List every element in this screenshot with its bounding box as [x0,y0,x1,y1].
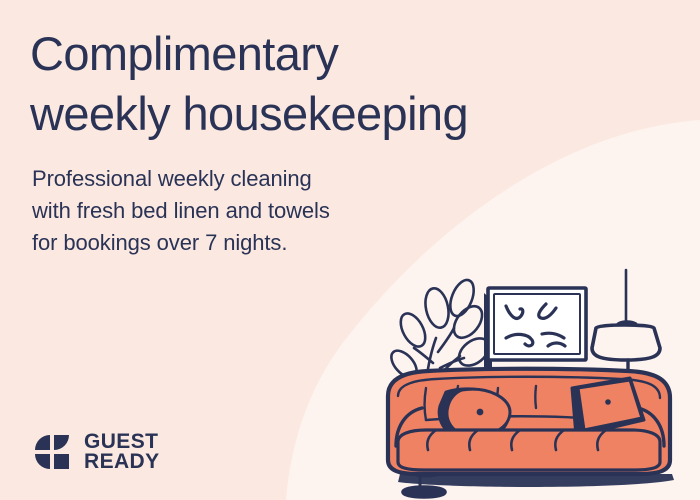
guestready-window-icon [32,432,72,472]
copy-block: Complimentary weekly housekeeping Profes… [30,24,630,259]
page-title: Complimentary weekly housekeeping [30,24,630,143]
promo-card: Complimentary weekly housekeeping Profes… [0,0,700,500]
brand-wordmark: GUEST READY [84,432,160,472]
subtitle-text: Professional weekly cleaning with fresh … [32,163,630,259]
brand-logo: GUEST READY [32,432,160,472]
living-room-illustration [380,260,700,500]
pendant-lamp-icon [592,270,660,376]
coral-sofa-icon [388,369,674,487]
